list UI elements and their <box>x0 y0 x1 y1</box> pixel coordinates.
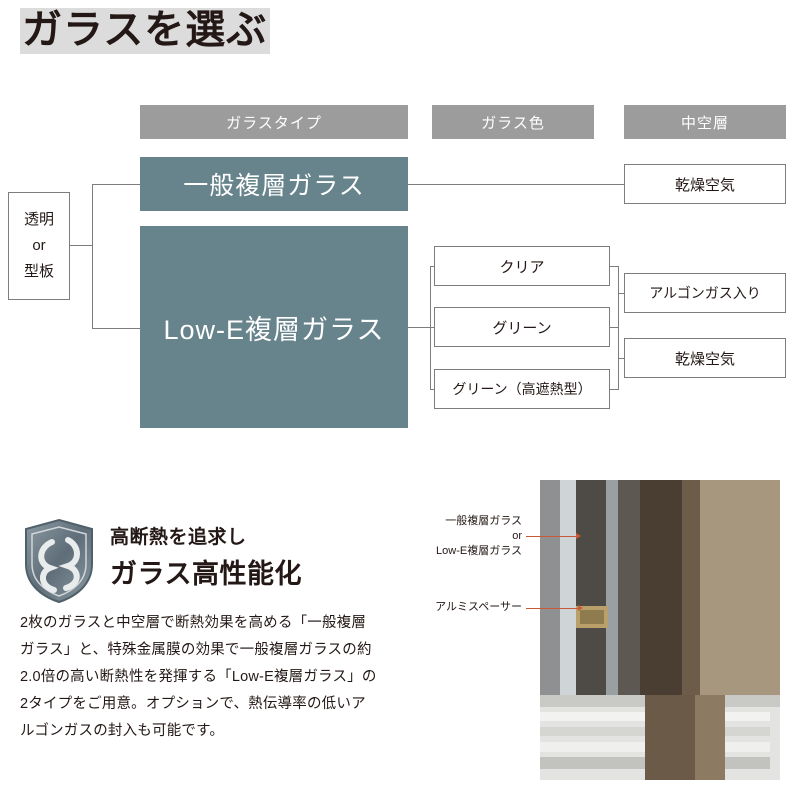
left-group-line-1: 透明 <box>24 207 54 233</box>
photo-callout-spacer: アルミスペーサー <box>390 600 522 615</box>
glass-color-clear[interactable]: クリア <box>434 246 610 286</box>
glass-selection-diagram: ガラスタイプ ガラス色 中空層 透明 or 型板 一般複層ガラス Low-E複層… <box>0 60 800 460</box>
column-header-cavity: 中空層 <box>624 105 786 139</box>
cavity-argon[interactable]: アルゴンガス入り <box>624 273 786 313</box>
left-group-line-3: 型板 <box>24 259 54 285</box>
connector-clear-stub <box>610 266 618 267</box>
cavity-dry-air-standard-label: 乾燥空気 <box>675 174 735 195</box>
photo-callout-glass-type-line3: Low-E複層ガラス <box>390 544 522 559</box>
photo-callout-glass-type-line1: 一般複層ガラス <box>390 514 522 529</box>
connector-left-to-type1 <box>92 184 140 185</box>
window-section-photo: 一般複層ガラス or Low-E複層ガラス アルミスペーサー <box>390 480 780 780</box>
photo-callout-spacer-arrow <box>578 605 583 611</box>
glass-type-standard-label: 一般複層ガラス <box>183 166 365 202</box>
connector-left-vertical <box>92 184 93 328</box>
column-header-glass-color-label: ガラス色 <box>481 112 545 133</box>
connector-colors-vertical <box>618 266 619 390</box>
page-title: ガラスを選ぶ <box>22 2 267 58</box>
glass-color-green-label: グリーン <box>492 317 551 338</box>
connector-left-to-type2 <box>92 328 140 329</box>
connector-green-shade-stub <box>610 389 618 390</box>
photo-callout-glass-type-leader <box>526 536 576 537</box>
glass-color-green-shade[interactable]: グリーン（高遮熱型） <box>434 369 610 409</box>
cavity-dry-air-standard[interactable]: 乾燥空気 <box>624 164 786 204</box>
photo-callout-spacer-leader <box>526 608 578 609</box>
photo-callout-glass-type-line2: or <box>390 529 522 544</box>
column-header-glass-type: ガラスタイプ <box>140 105 408 139</box>
feature-lead-large: ガラス高性能化 <box>110 552 302 591</box>
cavity-dry-air-lowe[interactable]: 乾燥空気 <box>624 338 786 378</box>
cavity-argon-label: アルゴンガス入り <box>649 283 761 303</box>
feature-lead-small: 高断熱を追求し <box>110 522 247 549</box>
shield-icon <box>22 518 96 604</box>
column-header-cavity-label: 中空層 <box>681 112 729 133</box>
glass-type-lowe-label: Low-E複層ガラス <box>164 308 385 347</box>
feature-section: 高断熱を追求し ガラス高性能化 2枚のガラスと中空層で断熱効果を高める「一般複層… <box>0 470 800 800</box>
left-group-line-2: or <box>32 233 45 259</box>
glass-color-clear-label: クリア <box>499 256 544 277</box>
cavity-dry-air-lowe-label: 乾燥空気 <box>675 348 735 369</box>
glass-type-standard[interactable]: 一般複層ガラス <box>140 157 408 211</box>
photo-callout-glass-type: 一般複層ガラス or Low-E複層ガラス <box>390 514 522 559</box>
column-header-glass-color: ガラス色 <box>432 105 594 139</box>
column-header-glass-type-label: ガラスタイプ <box>226 112 322 133</box>
glass-type-lowe[interactable]: Low-E複層ガラス <box>140 226 408 428</box>
left-group-box: 透明 or 型板 <box>8 192 70 300</box>
connector-left-stub <box>70 245 92 246</box>
page-header: ガラスを選ぶ <box>0 0 800 62</box>
feature-body-text: 2枚のガラスと中空層で断熱効果を高める「一般複層ガラス」と、特殊金属膜の効果で一… <box>20 610 380 745</box>
glass-color-green-shade-label: グリーン（高遮熱型） <box>452 379 591 399</box>
connector-lowe-stub <box>408 327 430 328</box>
connector-green-stub <box>610 327 618 328</box>
photo-callout-spacer-line1: アルミスペーサー <box>390 600 522 615</box>
photo-callout-glass-type-arrow <box>576 533 581 539</box>
glass-color-green[interactable]: グリーン <box>434 307 610 347</box>
connector-standard-to-cavity <box>408 184 624 185</box>
